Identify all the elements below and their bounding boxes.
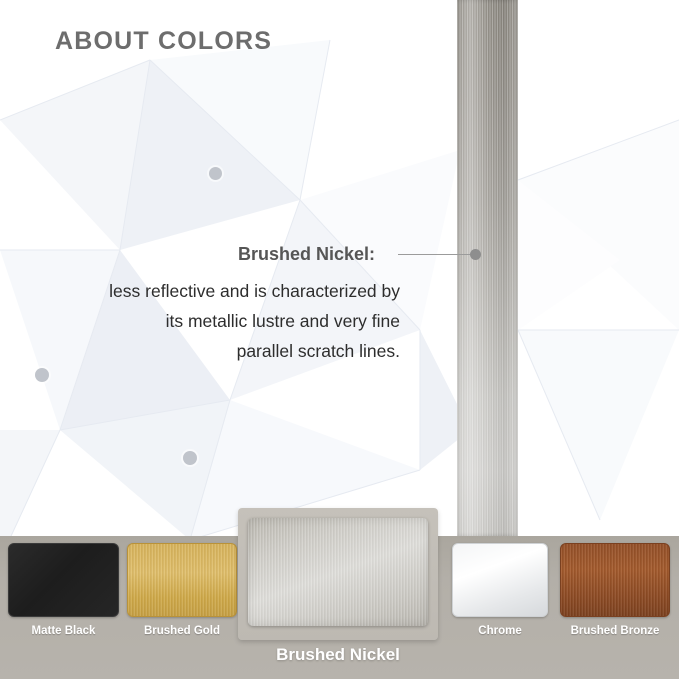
swatch-brushed-gold[interactable] xyxy=(127,543,237,617)
decor-dot-2 xyxy=(35,368,49,382)
callout-leader-line xyxy=(398,254,472,255)
callout-description-line-3: parallel scratch lines. xyxy=(38,336,400,366)
decor-dot-3 xyxy=(183,451,197,465)
swatch-label-brushed-nickel: Brushed Nickel xyxy=(238,645,438,665)
page-title: ABOUT COLORS xyxy=(55,27,272,56)
callout-label: Brushed Nickel: xyxy=(238,244,375,265)
swatch-brushed-bronze[interactable] xyxy=(560,543,670,617)
swatch-label-brushed-gold: Brushed Gold xyxy=(127,625,237,637)
callout-description: less reflective and is characterized by … xyxy=(38,276,400,366)
swatch-label-chrome: Chrome xyxy=(452,625,548,637)
brushed-nickel-bar xyxy=(457,0,518,536)
swatch-matte-black[interactable] xyxy=(8,543,119,617)
callout-anchor-dot xyxy=(470,249,481,260)
swatch-brushed-nickel[interactable] xyxy=(248,518,428,626)
decor-dot-1 xyxy=(209,167,222,180)
callout-description-line-2: its metallic lustre and very fine xyxy=(38,306,400,336)
about-colors-graphic: ABOUT COLORS Brushed Nickel: less reflec… xyxy=(0,0,679,679)
brushed-nickel-bar-sheen xyxy=(457,0,518,536)
swatch-label-matte-black: Matte Black xyxy=(8,625,119,637)
callout-description-line-1: less reflective and is characterized by xyxy=(38,276,400,306)
swatch-label-brushed-bronze: Brushed Bronze xyxy=(560,625,670,637)
swatch-chrome[interactable] xyxy=(452,543,548,617)
